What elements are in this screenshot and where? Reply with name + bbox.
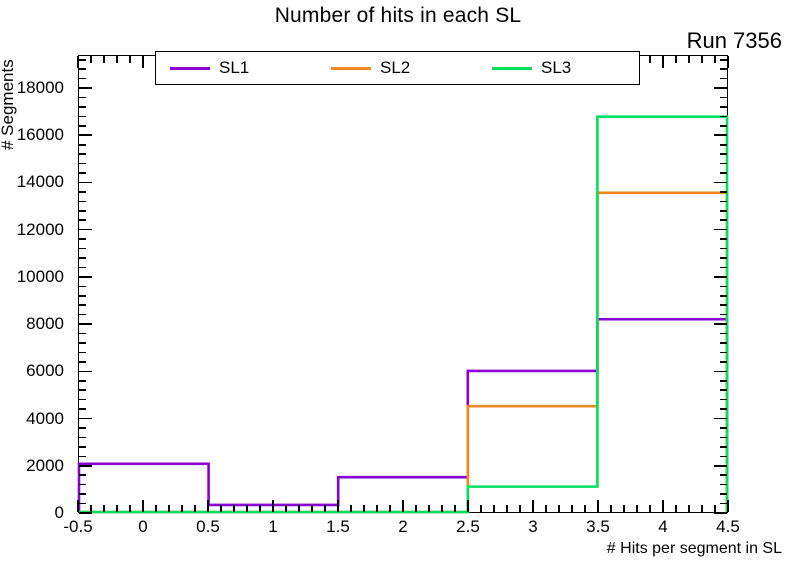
y-minor-tick-right [720, 427, 727, 429]
y-minor-tick-right [720, 257, 727, 259]
x-minor-tick [610, 505, 612, 512]
x-minor-tick [155, 505, 157, 512]
x-minor-tick [649, 505, 651, 512]
y-major-tick-right [714, 134, 727, 136]
x-minor-tick [558, 505, 560, 512]
x-minor-tick [129, 505, 131, 512]
y-minor-tick-right [720, 286, 727, 288]
x-minor-tick [389, 505, 391, 512]
x-minor-tick [350, 505, 352, 512]
x-minor-tick [194, 505, 196, 512]
y-minor-tick-right [720, 163, 727, 165]
y-minor-tick [79, 333, 86, 335]
x-major-tick [467, 500, 469, 512]
legend-swatch-icon [170, 67, 210, 70]
y-minor-tick [79, 144, 86, 146]
x-minor-tick [454, 505, 456, 512]
x-minor-tick [103, 505, 105, 512]
legend-entry-sl2[interactable]: SL2 [317, 58, 478, 78]
y-minor-tick [79, 437, 86, 439]
y-minor-tick-right [720, 484, 727, 486]
y-minor-tick [79, 267, 86, 269]
y-minor-tick-right [720, 456, 727, 458]
y-minor-tick [79, 125, 86, 127]
x-minor-tick-top [649, 56, 651, 63]
x-major-tick [662, 500, 664, 512]
chart-title: Number of hits in each SL [0, 4, 796, 28]
y-minor-tick [79, 408, 86, 410]
y-minor-tick [79, 503, 86, 505]
y-major-tick [79, 323, 92, 325]
x-major-tick [597, 500, 599, 512]
x-minor-tick-top [688, 56, 690, 63]
x-minor-tick-top [90, 56, 92, 63]
x-minor-tick [519, 505, 521, 512]
x-minor-tick [233, 505, 235, 512]
y-major-tick [79, 512, 92, 514]
y-minor-tick [79, 493, 86, 495]
x-minor-tick [506, 505, 508, 512]
x-minor-tick [701, 505, 703, 512]
x-minor-tick [623, 505, 625, 512]
run-label: Run 7356 [687, 28, 782, 54]
y-tick-label: 6000 [0, 361, 64, 381]
y-minor-tick [79, 361, 86, 363]
y-major-tick-right [714, 418, 727, 420]
x-major-tick [142, 500, 144, 512]
x-major-tick [77, 500, 79, 512]
y-minor-tick-right [720, 144, 727, 146]
x-minor-tick [480, 505, 482, 512]
y-major-tick [79, 229, 92, 231]
y-minor-tick [79, 68, 86, 70]
y-major-tick [79, 134, 92, 136]
y-minor-tick-right [720, 342, 727, 344]
y-major-tick-right [714, 465, 727, 467]
x-minor-tick [428, 505, 430, 512]
y-minor-tick [79, 295, 86, 297]
y-major-tick [79, 182, 92, 184]
x-major-tick [402, 500, 404, 512]
y-minor-tick [79, 456, 86, 458]
x-minor-tick [285, 505, 287, 512]
x-minor-tick [415, 505, 417, 512]
y-minor-tick-right [720, 191, 727, 193]
x-minor-tick [181, 505, 183, 512]
x-minor-tick-top [701, 56, 703, 63]
x-minor-tick [259, 505, 261, 512]
y-minor-tick [79, 484, 86, 486]
y-minor-tick [79, 78, 86, 80]
y-minor-tick-right [720, 446, 727, 448]
y-major-tick-right [714, 87, 727, 89]
y-minor-tick [79, 106, 86, 108]
y-minor-tick [79, 238, 86, 240]
x-minor-tick-top [675, 56, 677, 63]
x-major-tick-top [727, 56, 729, 68]
x-minor-tick [116, 505, 118, 512]
x-minor-tick-top [714, 56, 716, 63]
y-minor-tick-right [720, 68, 727, 70]
y-minor-tick-right [720, 267, 727, 269]
y-major-tick-right [714, 323, 727, 325]
legend-entry-sl3[interactable]: SL3 [478, 58, 639, 78]
y-minor-tick-right [720, 219, 727, 221]
y-minor-tick-right [720, 248, 727, 250]
y-minor-tick [79, 257, 86, 259]
y-minor-tick [79, 314, 86, 316]
y-major-tick [79, 87, 92, 89]
y-minor-tick [79, 389, 86, 391]
y-tick-label: 10000 [0, 267, 64, 287]
y-tick-label: 16000 [0, 125, 64, 145]
x-tick-label: 2.5 [456, 517, 480, 537]
y-minor-tick-right [720, 408, 727, 410]
x-minor-tick [714, 505, 716, 512]
y-minor-tick-right [720, 238, 727, 240]
x-minor-tick [493, 505, 495, 512]
x-tick-label: 2 [398, 517, 407, 537]
y-minor-tick-right [720, 97, 727, 99]
y-minor-tick [79, 248, 86, 250]
plot-canvas [79, 56, 727, 512]
x-tick-label: 0 [138, 517, 147, 537]
legend-swatch-icon [492, 67, 532, 70]
y-major-tick [79, 465, 92, 467]
x-tick-label: 0.5 [196, 517, 220, 537]
y-major-tick [79, 371, 92, 373]
y-minor-tick [79, 304, 86, 306]
legend-swatch-icon [331, 67, 371, 70]
y-minor-tick-right [720, 437, 727, 439]
x-major-tick [207, 500, 209, 512]
chart-root: Number of hits in each SL Run 7356 # Seg… [0, 0, 796, 572]
x-tick-label: 1 [268, 517, 277, 537]
y-minor-tick [79, 399, 86, 401]
y-minor-tick [79, 201, 86, 203]
x-minor-tick [545, 505, 547, 512]
x-major-tick-top [662, 56, 664, 68]
y-minor-tick [79, 116, 86, 118]
x-minor-tick [363, 505, 365, 512]
x-tick-label: 3 [528, 517, 537, 537]
y-minor-tick-right [720, 125, 727, 127]
x-tick-label: -0.5 [63, 517, 92, 537]
legend-label: SL1 [219, 58, 249, 78]
x-tick-label: 3.5 [586, 517, 610, 537]
x-minor-tick-top [116, 56, 118, 63]
x-major-tick [337, 500, 339, 512]
y-tick-label: 14000 [0, 172, 64, 192]
y-minor-tick-right [720, 201, 727, 203]
x-minor-tick [688, 505, 690, 512]
y-minor-tick [79, 153, 86, 155]
y-tick-label: 2000 [0, 456, 64, 476]
x-minor-tick [571, 505, 573, 512]
y-major-tick-right [714, 276, 727, 278]
y-tick-label: 8000 [0, 314, 64, 334]
x-minor-tick [311, 505, 313, 512]
y-major-tick-right [714, 371, 727, 373]
legend-label: SL3 [541, 58, 571, 78]
x-tick-label: 4.5 [716, 517, 740, 537]
y-minor-tick-right [720, 389, 727, 391]
x-major-tick-top [77, 56, 79, 68]
x-minor-tick [636, 505, 638, 512]
y-minor-tick-right [720, 59, 727, 61]
y-minor-tick [79, 191, 86, 193]
plot-frame [78, 55, 728, 513]
y-minor-tick-right [720, 172, 727, 174]
series-line-sl1 [79, 319, 727, 512]
x-major-tick-top [142, 56, 144, 68]
x-major-tick [272, 500, 274, 512]
legend-label: SL2 [380, 58, 410, 78]
y-minor-tick [79, 380, 86, 382]
y-major-tick-right [714, 182, 727, 184]
x-minor-tick [376, 505, 378, 512]
y-major-tick [79, 276, 92, 278]
y-minor-tick [79, 427, 86, 429]
x-minor-tick-top [129, 56, 131, 63]
y-minor-tick-right [720, 304, 727, 306]
y-minor-tick-right [720, 503, 727, 505]
x-minor-tick [246, 505, 248, 512]
y-tick-label: 12000 [0, 220, 64, 240]
y-tick-label: 0 [0, 503, 64, 523]
y-minor-tick [79, 474, 86, 476]
y-minor-tick [79, 219, 86, 221]
x-minor-tick-top [103, 56, 105, 63]
y-minor-tick-right [720, 314, 727, 316]
x-minor-tick [584, 505, 586, 512]
y-minor-tick [79, 210, 86, 212]
y-minor-tick-right [720, 352, 727, 354]
y-minor-tick-right [720, 380, 727, 382]
y-minor-tick-right [720, 361, 727, 363]
y-minor-tick-right [720, 493, 727, 495]
y-tick-label: 4000 [0, 409, 64, 429]
x-minor-tick [168, 505, 170, 512]
y-minor-tick-right [720, 474, 727, 476]
y-major-tick [79, 418, 92, 420]
y-tick-label: 18000 [0, 78, 64, 98]
y-minor-tick-right [720, 333, 727, 335]
y-minor-tick-right [720, 399, 727, 401]
legend-entry-sl1[interactable]: SL1 [156, 58, 317, 78]
y-minor-tick [79, 172, 86, 174]
y-minor-tick-right [720, 153, 727, 155]
y-minor-tick [79, 59, 86, 61]
x-minor-tick [324, 505, 326, 512]
chart-legend: SL1SL2SL3 [155, 51, 640, 85]
y-minor-tick-right [720, 210, 727, 212]
y-major-tick-right [714, 229, 727, 231]
x-minor-tick [298, 505, 300, 512]
x-major-tick [532, 500, 534, 512]
x-axis-title: # Hits per segment in SL [607, 540, 782, 558]
x-minor-tick [675, 505, 677, 512]
y-minor-tick-right [720, 116, 727, 118]
y-minor-tick [79, 163, 86, 165]
series-line-sl3 [79, 117, 727, 512]
x-minor-tick [220, 505, 222, 512]
y-minor-tick [79, 97, 86, 99]
x-tick-label: 4 [658, 517, 667, 537]
y-minor-tick [79, 352, 86, 354]
x-major-tick [727, 500, 729, 512]
y-minor-tick [79, 446, 86, 448]
x-minor-tick [441, 505, 443, 512]
y-minor-tick-right [720, 106, 727, 108]
y-minor-tick-right [720, 295, 727, 297]
y-minor-tick [79, 286, 86, 288]
y-minor-tick-right [720, 78, 727, 80]
x-minor-tick [90, 505, 92, 512]
x-tick-label: 1.5 [326, 517, 350, 537]
y-major-tick-right [714, 512, 727, 514]
y-minor-tick [79, 342, 86, 344]
